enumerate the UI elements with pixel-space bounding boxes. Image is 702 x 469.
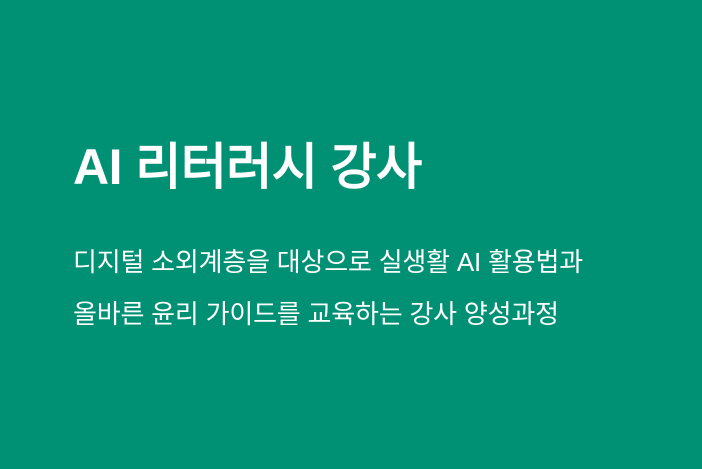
banner-subtitle: 디지털 소외계층을 대상으로 실생활 AI 활용법과 올바른 윤리 가이드를 교…	[73, 236, 583, 340]
hero-banner: AI 리터러시 강사 디지털 소외계층을 대상으로 실생활 AI 활용법과 올바…	[0, 0, 702, 469]
banner-subtitle-line-1: 디지털 소외계층을 대상으로 실생활 AI 활용법과	[73, 236, 583, 288]
page-title: AI 리터러시 강사	[73, 142, 422, 192]
banner-subtitle-line-2: 올바른 윤리 가이드를 교육하는 강사 양성과정	[73, 288, 583, 340]
